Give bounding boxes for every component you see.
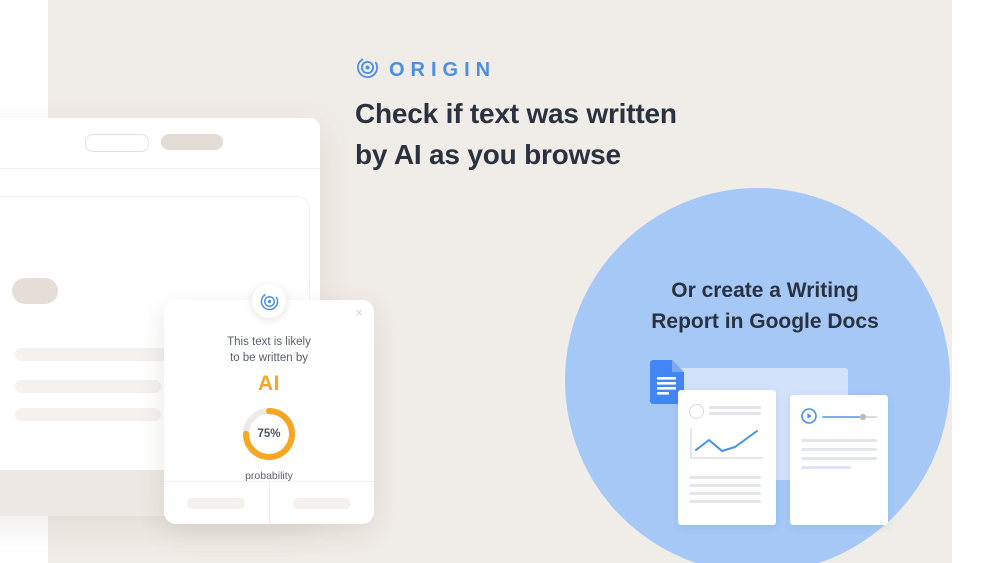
browser-tab-inactive[interactable] xyxy=(85,134,149,152)
popup-message-line2: to be written by xyxy=(164,350,374,366)
docs-title-line1: Or create a Writing xyxy=(585,275,945,306)
docs-feature-title: Or create a Writing Report in Google Doc… xyxy=(585,275,945,337)
button-placeholder xyxy=(293,498,351,509)
skeleton-line xyxy=(15,380,161,393)
origin-target-icon xyxy=(355,55,380,85)
extension-popup: × This text is likely to be written by A… xyxy=(164,300,374,524)
brand-name: ORIGIN xyxy=(389,59,496,82)
text-line xyxy=(689,492,761,495)
page-title: Check if text was written by AI as you b… xyxy=(355,93,685,175)
text-line xyxy=(801,439,877,442)
text-line xyxy=(709,406,761,409)
text-line xyxy=(689,484,761,487)
popup-message-line1: This text is likely xyxy=(164,334,374,350)
text-line xyxy=(689,476,761,479)
verdict-label: AI xyxy=(164,372,374,396)
text-line xyxy=(801,448,877,451)
popup-footer-button-left[interactable] xyxy=(164,482,269,524)
report-document-left[interactable] xyxy=(678,390,776,525)
close-icon[interactable]: × xyxy=(352,306,366,320)
popup-message: This text is likely to be written by xyxy=(164,334,374,366)
origin-target-icon xyxy=(252,284,286,318)
brand-logo: ORIGIN xyxy=(355,55,496,85)
text-line xyxy=(801,457,877,460)
avatar-circle-icon xyxy=(689,404,704,419)
text-line xyxy=(801,466,851,469)
browser-tab-bar xyxy=(0,118,320,169)
probability-value: 75% xyxy=(239,404,299,464)
browser-tab-active[interactable] xyxy=(161,134,223,150)
documents-illustration xyxy=(650,360,900,530)
button-placeholder xyxy=(187,498,245,509)
right-white-margin xyxy=(952,0,1000,563)
placeholder-blob xyxy=(12,278,58,304)
report-document-right[interactable] xyxy=(790,395,888,525)
promo-banner: × This text is likely to be written by A… xyxy=(0,0,1000,563)
skeleton-line xyxy=(15,408,161,421)
text-line xyxy=(709,412,761,415)
text-line xyxy=(689,500,761,503)
docs-title-line2: Report in Google Docs xyxy=(585,306,945,337)
probability-donut-chart: 75% xyxy=(239,404,299,464)
popup-footer-button-right[interactable] xyxy=(269,482,375,524)
popup-footer xyxy=(164,481,374,524)
